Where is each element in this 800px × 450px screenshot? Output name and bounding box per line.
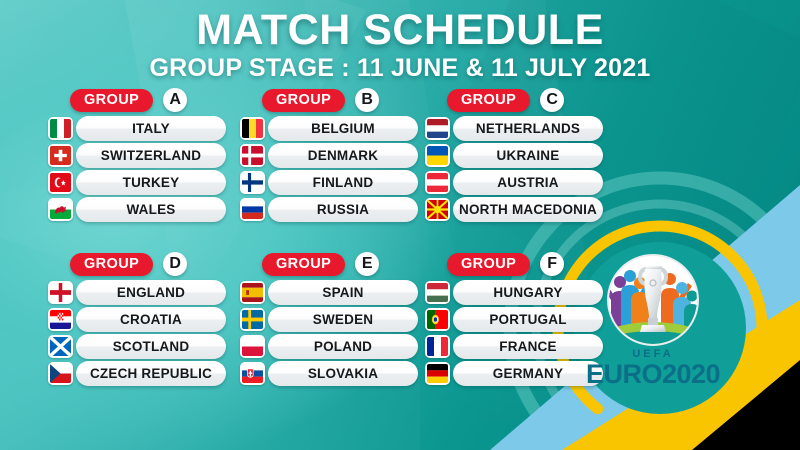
team-row[interactable]: NORTH MACEDONIA	[425, 197, 603, 222]
group-header-e: GROUPE	[240, 252, 418, 276]
belgium-flag	[240, 117, 265, 140]
group-letter-badge: A	[163, 88, 187, 112]
page-subtitle: GROUP STAGE : 11 JUNE & 11 JULY 2021	[0, 54, 800, 83]
team-name: SLOVAKIA	[268, 361, 418, 386]
team-row[interactable]: PORTUGAL	[425, 307, 603, 332]
team-row[interactable]: NETHERLANDS	[425, 116, 603, 141]
team-name: NETHERLANDS	[453, 116, 603, 141]
austria-flag	[425, 171, 450, 194]
team-row[interactable]: POLAND	[240, 334, 418, 359]
team-row[interactable]: FINLAND	[240, 170, 418, 195]
page-title: MATCH SCHEDULE	[0, 6, 800, 55]
poland-flag	[240, 335, 265, 358]
team-name: UKRAINE	[453, 143, 603, 168]
team-row[interactable]: SCOTLAND	[48, 334, 226, 359]
wales-flag	[48, 198, 73, 221]
switzerland-flag	[48, 144, 73, 167]
team-row[interactable]: GERMANY	[425, 361, 603, 386]
team-row[interactable]: WALES	[48, 197, 226, 222]
team-row[interactable]: UKRAINE	[425, 143, 603, 168]
russia-flag	[240, 198, 265, 221]
denmark-flag	[240, 144, 265, 167]
team-name: BELGIUM	[268, 116, 418, 141]
italy-flag	[48, 117, 73, 140]
group-header-f: GROUPF	[425, 252, 603, 276]
team-row[interactable]: SWITZERLAND	[48, 143, 226, 168]
team-name: RUSSIA	[268, 197, 418, 222]
team-name: SPAIN	[268, 280, 418, 305]
ukraine-flag	[425, 144, 450, 167]
scotland-flag	[48, 335, 73, 358]
germany-flag	[425, 362, 450, 385]
group-block-e: GROUPESPAINSWEDENPOLANDSLOVAKIA	[240, 252, 418, 388]
team-name: SWEDEN	[268, 307, 418, 332]
team-name: POLAND	[268, 334, 418, 359]
group-label-badge: GROUP	[70, 89, 153, 112]
team-name: TURKEY	[76, 170, 226, 195]
team-row[interactable]: CZECH REPUBLIC	[48, 361, 226, 386]
team-row[interactable]: SPAIN	[240, 280, 418, 305]
group-block-d: GROUPDENGLANDCROATIASCOTLANDCZECH REPUBL…	[48, 252, 226, 388]
hungary-flag	[425, 281, 450, 304]
team-name: SCOTLAND	[76, 334, 226, 359]
team-name: NORTH MACEDONIA	[453, 197, 603, 222]
team-row[interactable]: TURKEY	[48, 170, 226, 195]
team-name: ITALY	[76, 116, 226, 141]
group-header-a: GROUPA	[48, 88, 226, 112]
czech-republic-flag	[48, 362, 73, 385]
sweden-flag	[240, 308, 265, 331]
team-row[interactable]: FRANCE	[425, 334, 603, 359]
group-header-d: GROUPD	[48, 252, 226, 276]
team-row[interactable]: HUNGARY	[425, 280, 603, 305]
group-label-badge: GROUP	[262, 253, 345, 276]
group-label-badge: GROUP	[447, 89, 530, 112]
group-label-badge: GROUP	[70, 253, 153, 276]
team-row[interactable]: BELGIUM	[240, 116, 418, 141]
england-flag	[48, 281, 73, 304]
france-flag	[425, 335, 450, 358]
match-schedule-poster: MATCH SCHEDULE GROUP STAGE : 11 JUNE & 1…	[0, 0, 800, 450]
turkey-flag	[48, 171, 73, 194]
team-row[interactable]: RUSSIA	[240, 197, 418, 222]
group-header-c: GROUPC	[425, 88, 603, 112]
team-name: WALES	[76, 197, 226, 222]
team-row[interactable]: CROATIA	[48, 307, 226, 332]
group-block-a: GROUPAITALYSWITZERLANDTURKEYWALES	[48, 88, 226, 224]
group-letter-badge: D	[163, 252, 187, 276]
group-label-badge: GROUP	[262, 89, 345, 112]
team-name: CZECH REPUBLIC	[76, 361, 226, 386]
spain-flag	[240, 281, 265, 304]
finland-flag	[240, 171, 265, 194]
group-block-f: GROUPFHUNGARYPORTUGALFRANCEGERMANY	[425, 252, 603, 388]
team-row[interactable]: ITALY	[48, 116, 226, 141]
uefa-euro-2020-logo: UEFA EURO2020	[578, 252, 728, 402]
group-letter-badge: C	[540, 88, 564, 112]
team-name: ENGLAND	[76, 280, 226, 305]
north-macedonia-flag	[425, 198, 450, 221]
group-letter-badge: B	[355, 88, 379, 112]
group-block-b: GROUPBBELGIUMDENMARKFINLANDRUSSIA	[240, 88, 418, 224]
group-letter-badge: E	[355, 252, 379, 276]
team-name: SWITZERLAND	[76, 143, 226, 168]
group-block-c: GROUPCNETHERLANDSUKRAINEAUSTRIANORTH MAC…	[425, 88, 603, 224]
team-row[interactable]: AUSTRIA	[425, 170, 603, 195]
group-label-badge: GROUP	[447, 253, 530, 276]
group-header-b: GROUPB	[240, 88, 418, 112]
team-name: DENMARK	[268, 143, 418, 168]
team-name: AUSTRIA	[453, 170, 603, 195]
team-row[interactable]: SWEDEN	[240, 307, 418, 332]
netherlands-flag	[425, 117, 450, 140]
portugal-flag	[425, 308, 450, 331]
croatia-flag	[48, 308, 73, 331]
group-letter-badge: F	[540, 252, 564, 276]
slovakia-flag	[240, 362, 265, 385]
logo-euro-text: EURO2020	[578, 359, 728, 390]
team-row[interactable]: ENGLAND	[48, 280, 226, 305]
team-row[interactable]: DENMARK	[240, 143, 418, 168]
team-name: CROATIA	[76, 307, 226, 332]
team-row[interactable]: SLOVAKIA	[240, 361, 418, 386]
team-name: FINLAND	[268, 170, 418, 195]
